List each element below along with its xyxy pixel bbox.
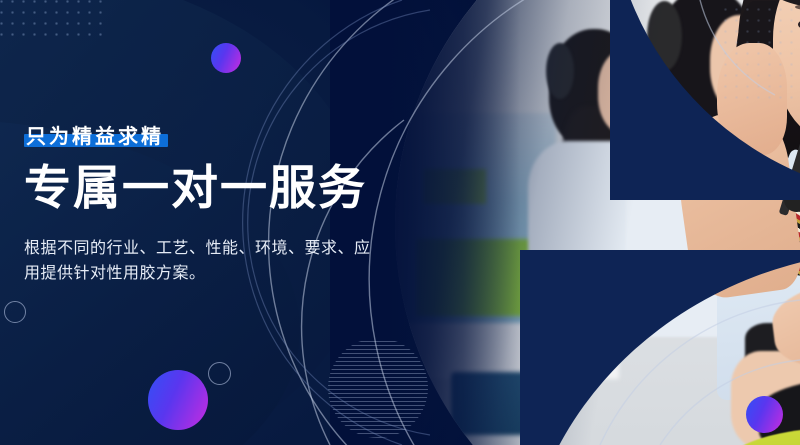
dot-grid-top-right-icon bbox=[720, 4, 800, 100]
page-title: 专属一对一服务 bbox=[24, 165, 384, 212]
striped-circle-icon bbox=[328, 338, 428, 438]
banner-text-block: 只为精益求精 专属一对一服务 根据不同的行业、工艺、性能、环境、要求、应用提供针… bbox=[24, 120, 384, 286]
eyebrow-label: 只为精益求精 bbox=[24, 120, 168, 149]
promo-banner: 为力 就是 不努力就是淡季 bbox=[0, 0, 800, 445]
gradient-circle-bottom bbox=[148, 370, 208, 430]
eyebrow-text: 只为精益求精 bbox=[26, 124, 164, 148]
outline-ring-mid bbox=[208, 362, 231, 385]
gradient-circle-top bbox=[211, 43, 241, 73]
outline-ring-left bbox=[4, 301, 26, 323]
banner-subtitle: 根据不同的行业、工艺、性能、环境、要求、应用提供针对性用胶方案。 bbox=[24, 236, 379, 286]
dot-grid-top-left-icon bbox=[0, 0, 108, 42]
gradient-circle-bottom-right bbox=[746, 396, 783, 433]
